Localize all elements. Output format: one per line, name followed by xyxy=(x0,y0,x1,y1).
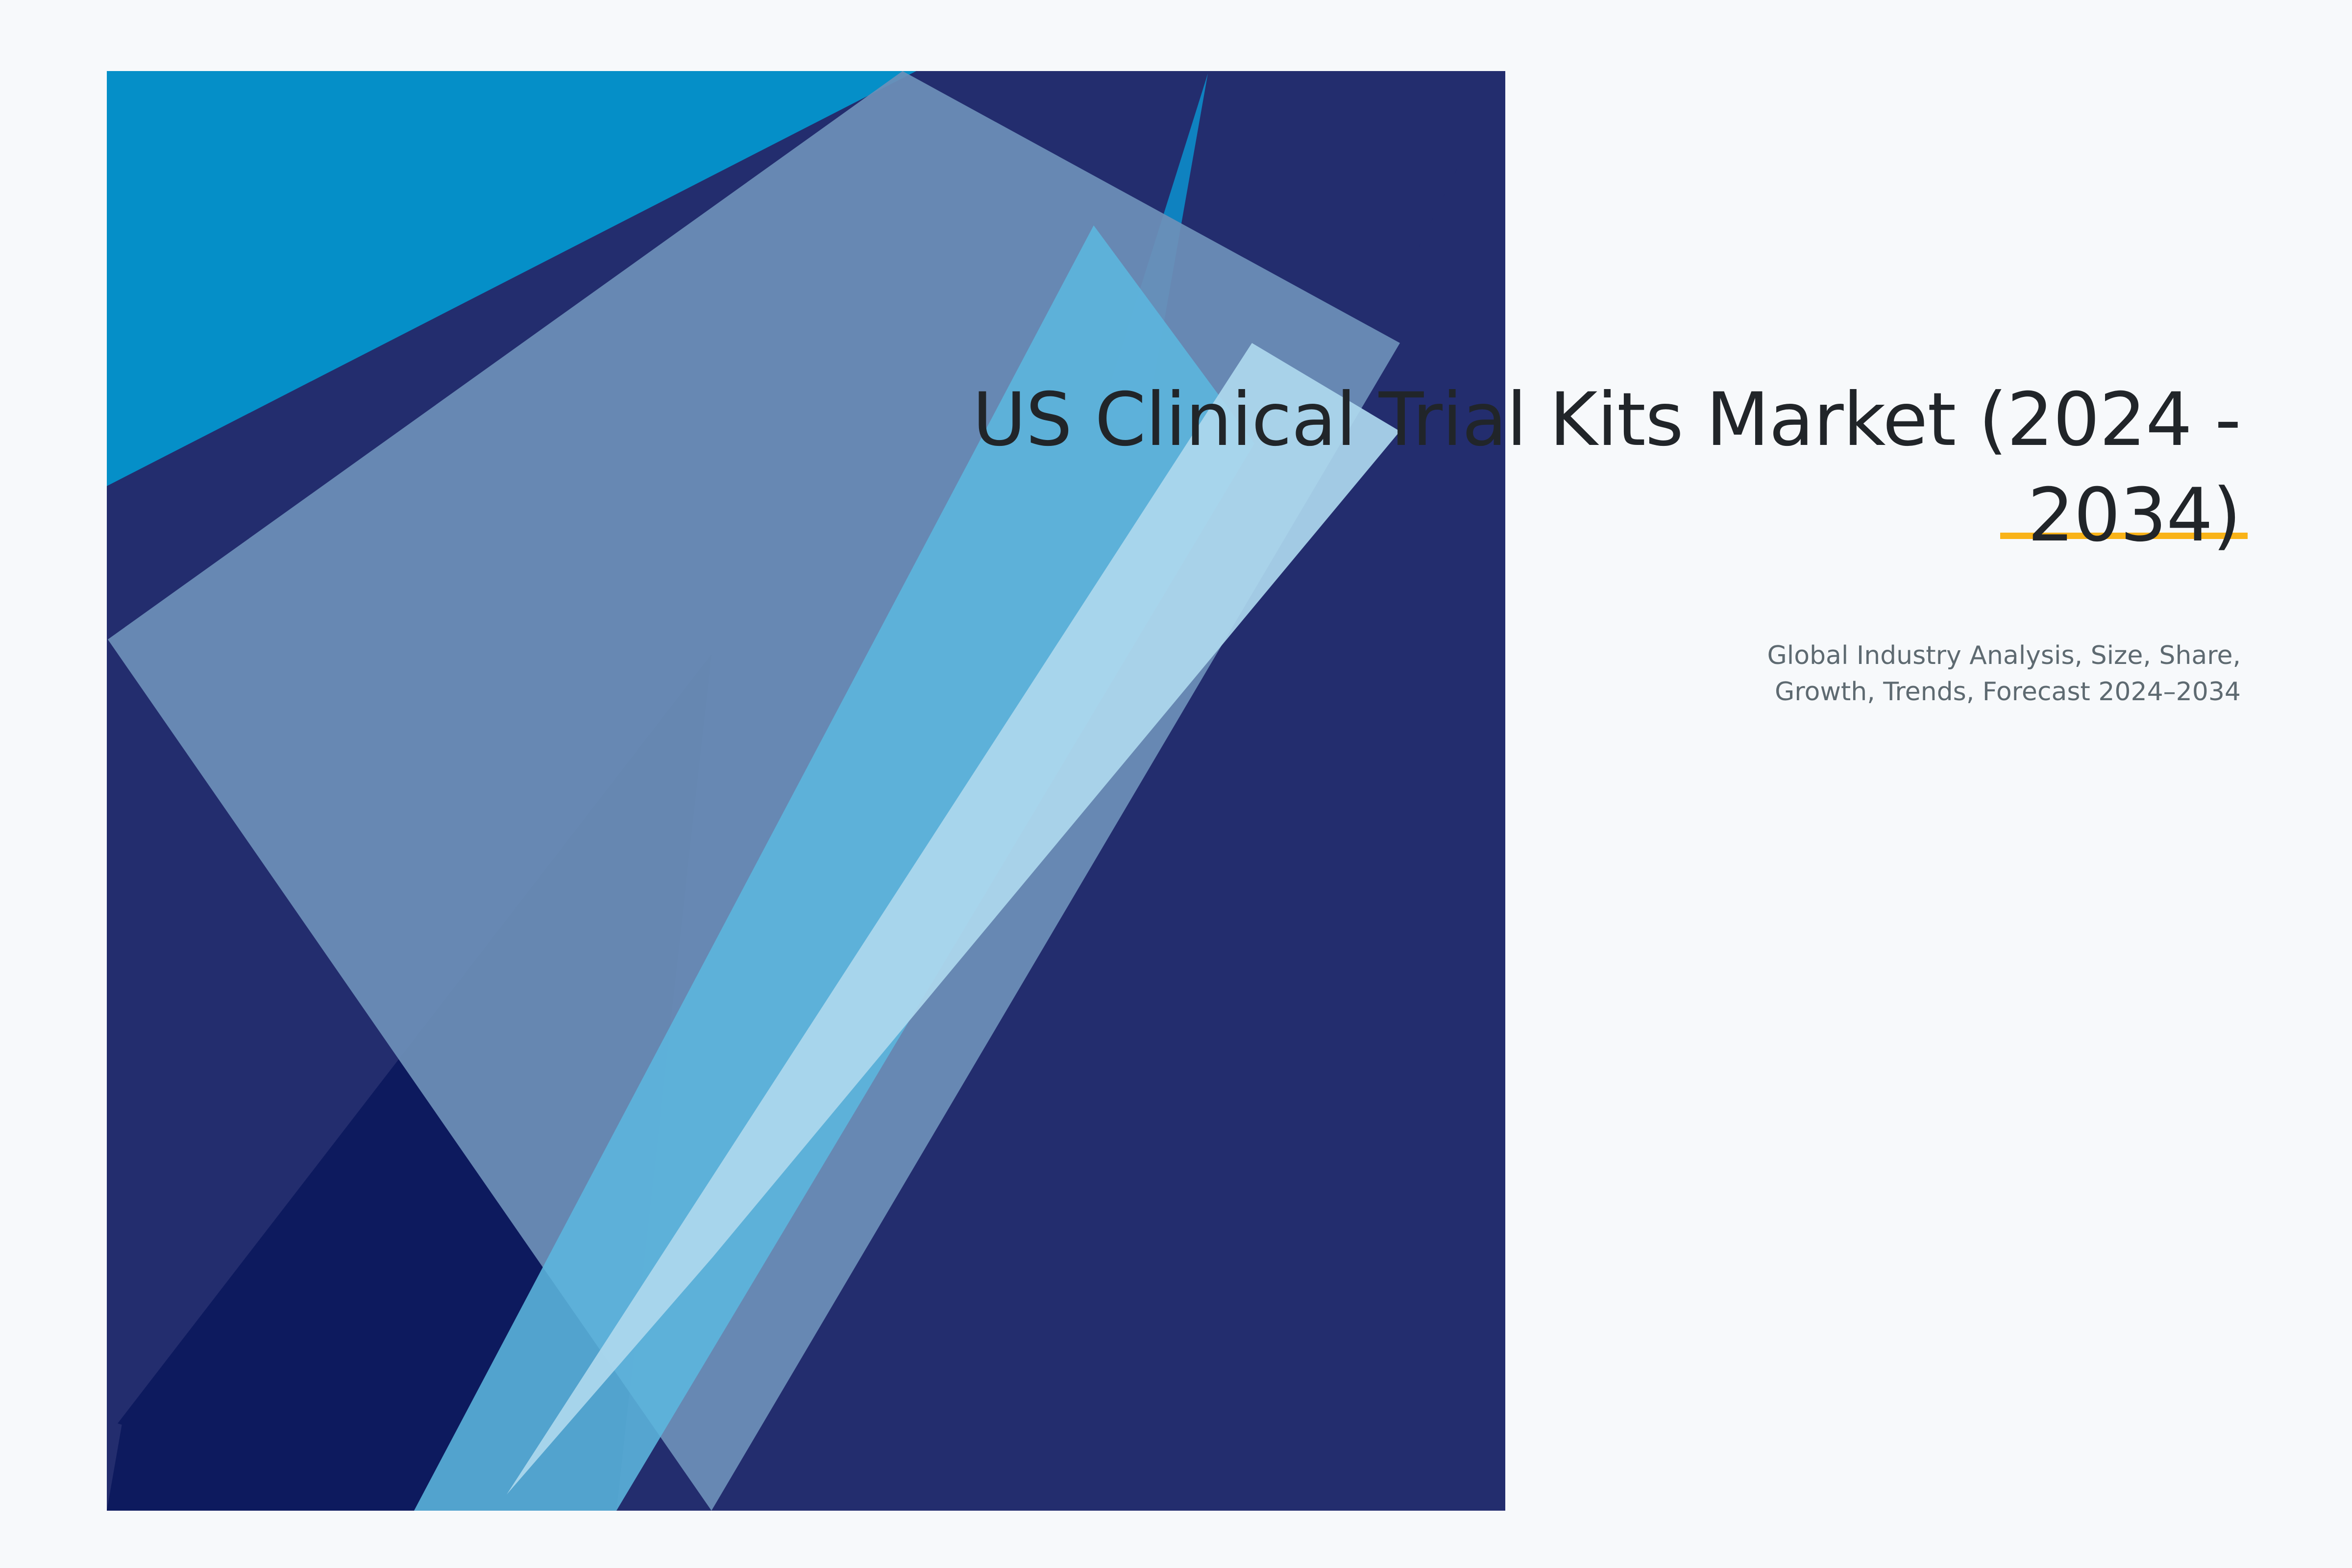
page-title: US Clinical Trial Kits Market (2024 - 20… xyxy=(918,372,2241,563)
title-wrapper: US Clinical Trial Kits Market (2024 - 20… xyxy=(918,372,2241,563)
cyan-field-shape xyxy=(107,71,1505,1511)
navy-top-right-triangle-shape xyxy=(916,71,1505,316)
deep-navy-lower-block-shape xyxy=(118,654,711,1511)
abstract-geometric-artwork xyxy=(0,0,2352,1568)
navy-band-shape xyxy=(107,71,1505,1511)
cover-text-block: US Clinical Trial Kits Market (2024 - 20… xyxy=(918,372,2241,710)
steel-blue-quad-shape xyxy=(108,71,1400,1511)
deep-navy-wedge-shape xyxy=(107,654,711,1511)
page-subtitle: Global Industry Analysis, Size, Share, G… xyxy=(918,563,2241,710)
cover-page: US Clinical Trial Kits Market (2024 - 20… xyxy=(0,0,2352,1568)
